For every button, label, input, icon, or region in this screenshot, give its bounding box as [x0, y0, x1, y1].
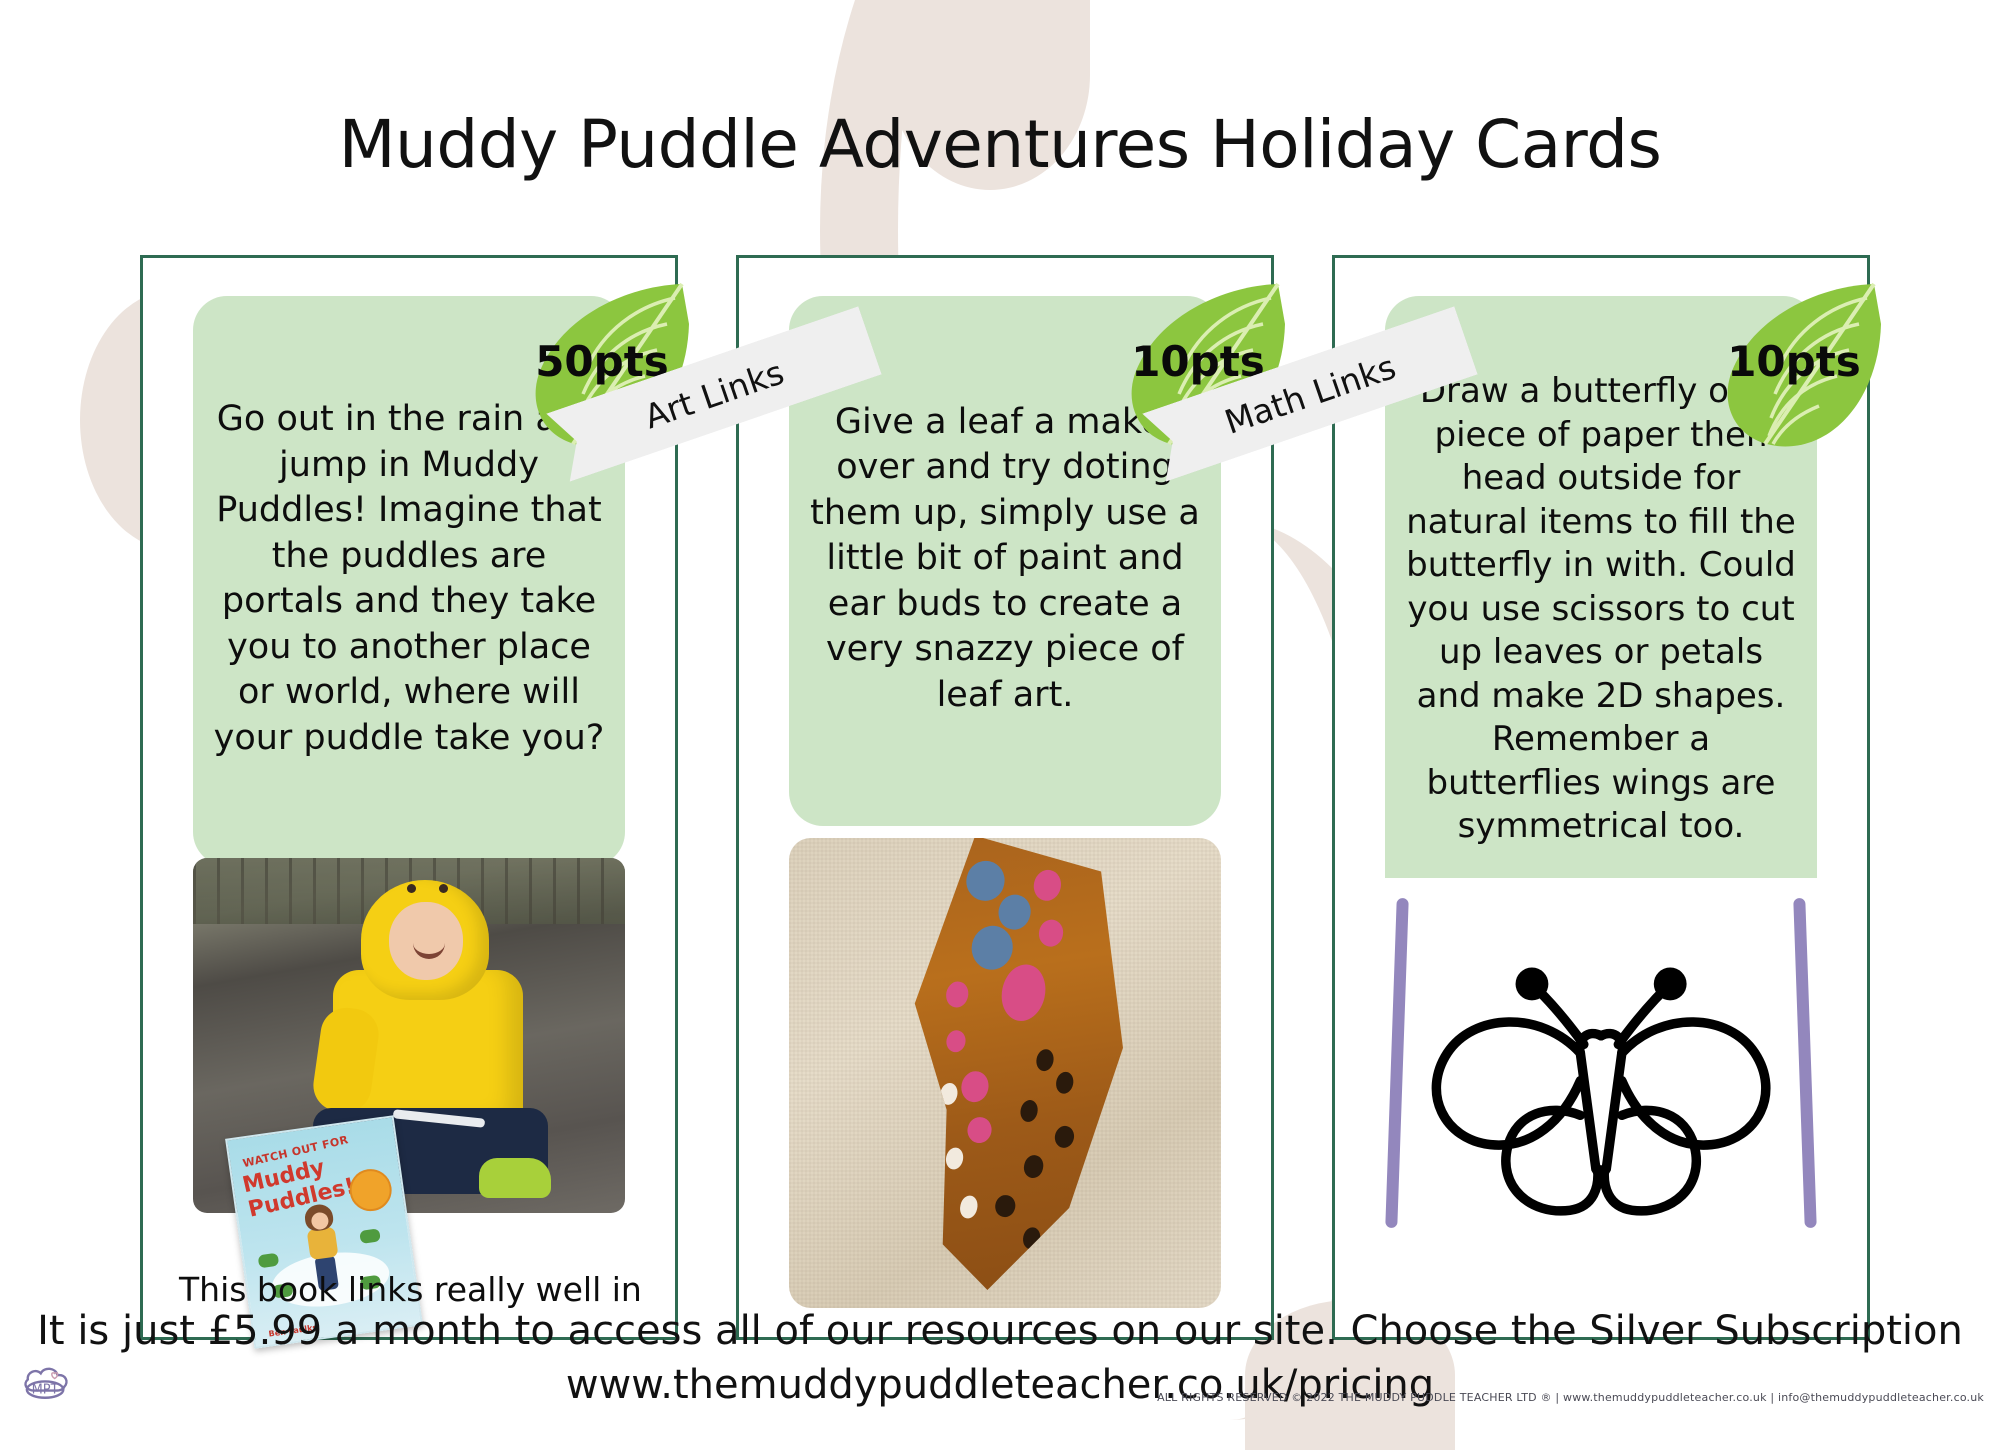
paint-dot-dark-1: [1034, 1048, 1055, 1073]
purple-bar-left: [1385, 898, 1409, 1228]
butterfly-icon: [1411, 922, 1791, 1274]
paint-dot-pink-1: [1031, 867, 1063, 903]
points-label: 10pts: [1699, 276, 1889, 451]
leaf-points-badge: 10pts: [1699, 276, 1889, 451]
paint-dot-blue-3: [967, 922, 1016, 974]
paint-dot-dark-4: [1053, 1125, 1077, 1151]
paint-dot-dark-7: [1021, 1226, 1042, 1251]
paint-dot-blue-2: [996, 892, 1034, 933]
purple-bar-right: [1793, 898, 1817, 1228]
page-title: Muddy Puddle Adventures Holiday Cards: [0, 106, 2000, 183]
kid-eye-left: [407, 884, 416, 893]
svg-text:MPT: MPT: [32, 1382, 59, 1397]
paint-dot-dark-5: [1022, 1154, 1046, 1180]
mpt-cloud-logo: MPT: [18, 1356, 76, 1404]
cards-row: Go out in the rain and jump in Muddy Pud…: [140, 255, 1870, 1340]
painted-leaf-shape: [841, 838, 1169, 1308]
book-crocodile-3: [359, 1228, 381, 1244]
paint-dot-white-2: [944, 1147, 965, 1172]
kid-boot-right: [479, 1158, 551, 1198]
paint-dot-pink-5: [944, 1029, 968, 1055]
paint-dot-pink-3: [996, 961, 1051, 1026]
paint-dot-white-3: [959, 1195, 980, 1220]
book-boy-body: [307, 1227, 339, 1261]
card-text-1: Go out in the rain and jump in Muddy Pud…: [211, 397, 607, 761]
paint-dot-dark-3: [1019, 1099, 1040, 1124]
butterfly-outline-drawing: [1385, 878, 1817, 1318]
paint-dot-dark-6: [994, 1193, 1018, 1219]
paint-dot-blue-1: [962, 858, 1008, 905]
paint-dot-dark-2: [1054, 1071, 1075, 1096]
decorated-leaf-art-photo: [789, 838, 1221, 1308]
paint-dot-white-1: [938, 1082, 959, 1107]
card-butterfly-math[interactable]: Math Links Draw a butterfly on a piece o…: [1332, 255, 1870, 1340]
copyright-notice: ALL RIGHTS RESERVED © 2022 THE MUDDY PUD…: [1157, 1391, 1984, 1404]
paint-dot-pink-2: [1036, 918, 1065, 949]
paint-dot-pink-4: [944, 980, 971, 1010]
footer-subscription-text: It is just £5.99 a month to access all o…: [0, 1308, 2000, 1354]
book-crocodile-1: [258, 1253, 280, 1269]
kid-eye-right: [439, 884, 448, 893]
paint-dot-pink-6: [959, 1069, 991, 1105]
paint-dot-pink-7: [965, 1115, 994, 1146]
book-caption: This book links really well in: [179, 1270, 665, 1309]
